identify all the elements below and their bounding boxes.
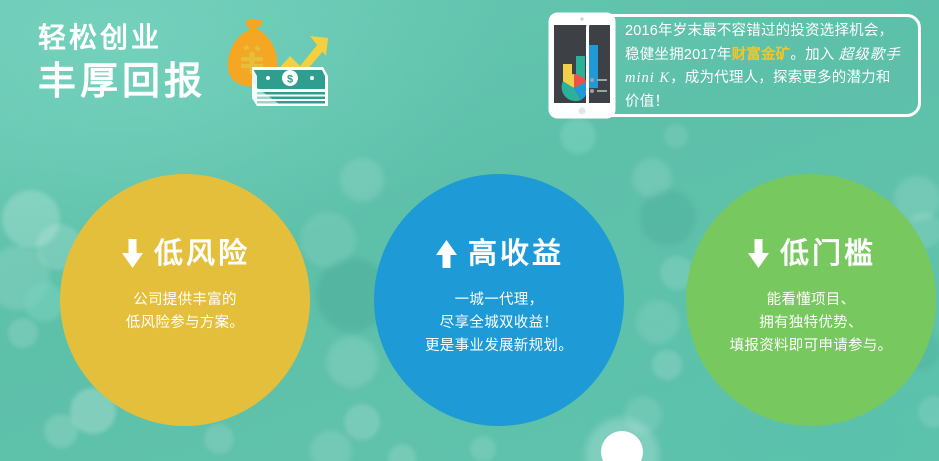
bubble-text-line: 价值！ [625,91,907,115]
arrow-up-icon [434,239,459,269]
feature-desc-line: 尽享全城双收益！ [392,312,607,335]
feature-desc-line: 更是事业发展新规划。 [392,335,607,358]
feature-circle-low-risk[interactable]: 低风险 公司提供丰富的 低风险参与方案。 [60,174,310,426]
feature-heading: 低门槛 [746,237,876,271]
brand-name: 超级歌手 [839,47,901,63]
bubble-text-line: mini K，成为代理人，探索更多的潜力和 [625,67,907,91]
bubble-text-segment: 稳健坐拥2017年 [625,47,732,63]
bubble-text-segment: 2016年岁末最不容错过的投资选择机会， [625,23,893,39]
svg-text:$: $ [287,74,293,86]
feature-circle-low-threshold[interactable]: 低门槛 能看懂项目、 拥有独特优势、 填报资料即可申请参与。 [686,174,936,426]
feature-desc-line: 拥有独特优势、 [704,312,919,335]
promo-bubble-text: 2016年岁末最不容错过的投资选择机会，稳健坐拥2017年财富金矿。加入 超级歌… [625,20,907,114]
feature-desc-line: 一城一代理， [392,289,607,312]
arrow-down-icon [746,239,771,269]
feature-desc-line: 能看懂项目、 [704,289,919,312]
banknote-stack-icon: $ [252,67,328,106]
feature-heading: 低风险 [120,237,250,271]
brand-name: mini K [625,70,670,86]
feature-title: 高收益 [468,237,564,271]
money-bag-growth-chart-icon: $ [212,14,337,119]
feature-description: 一城一代理， 尽享全城双收益！ 更是事业发展新规划。 [392,289,607,358]
arrow-down-icon [120,239,145,269]
page-title: 轻松创业 丰厚回报 [38,20,206,106]
headline-line-2: 丰厚回报 [38,58,206,106]
bubble-text-segment: ，成为代理人，探索更多的潜力和 [670,70,891,86]
highlighted-keyword: 财富金矿 [732,47,791,63]
feature-description: 能看懂项目、 拥有独特优势、 填报资料即可申请参与。 [704,289,919,358]
feature-desc-line: 低风险参与方案。 [78,312,293,335]
feature-title: 低门槛 [780,237,876,271]
headline-line-1: 轻松创业 [38,20,206,56]
bubble-text-line: 2016年岁末最不容错过的投资选择机会， [625,20,907,44]
promo-banner: 轻松创业 丰厚回报 $ [0,0,939,461]
feature-desc-line: 公司提供丰富的 [78,289,293,312]
bubble-text-segment: 。加入 [790,47,838,63]
feature-heading: 高收益 [434,237,564,271]
feature-description: 公司提供丰富的 低风险参与方案。 [78,289,293,335]
feature-desc-line: 填报资料即可申请参与。 [704,335,919,358]
feature-title: 低风险 [154,237,250,271]
bubble-text-line: 稳健坐拥2017年财富金矿。加入 超级歌手 [625,44,907,68]
feature-circle-high-return[interactable]: 高收益 一城一代理， 尽享全城双收益！ 更是事业发展新规划。 [374,174,624,426]
bubble-text-segment: 价值！ [625,94,669,110]
